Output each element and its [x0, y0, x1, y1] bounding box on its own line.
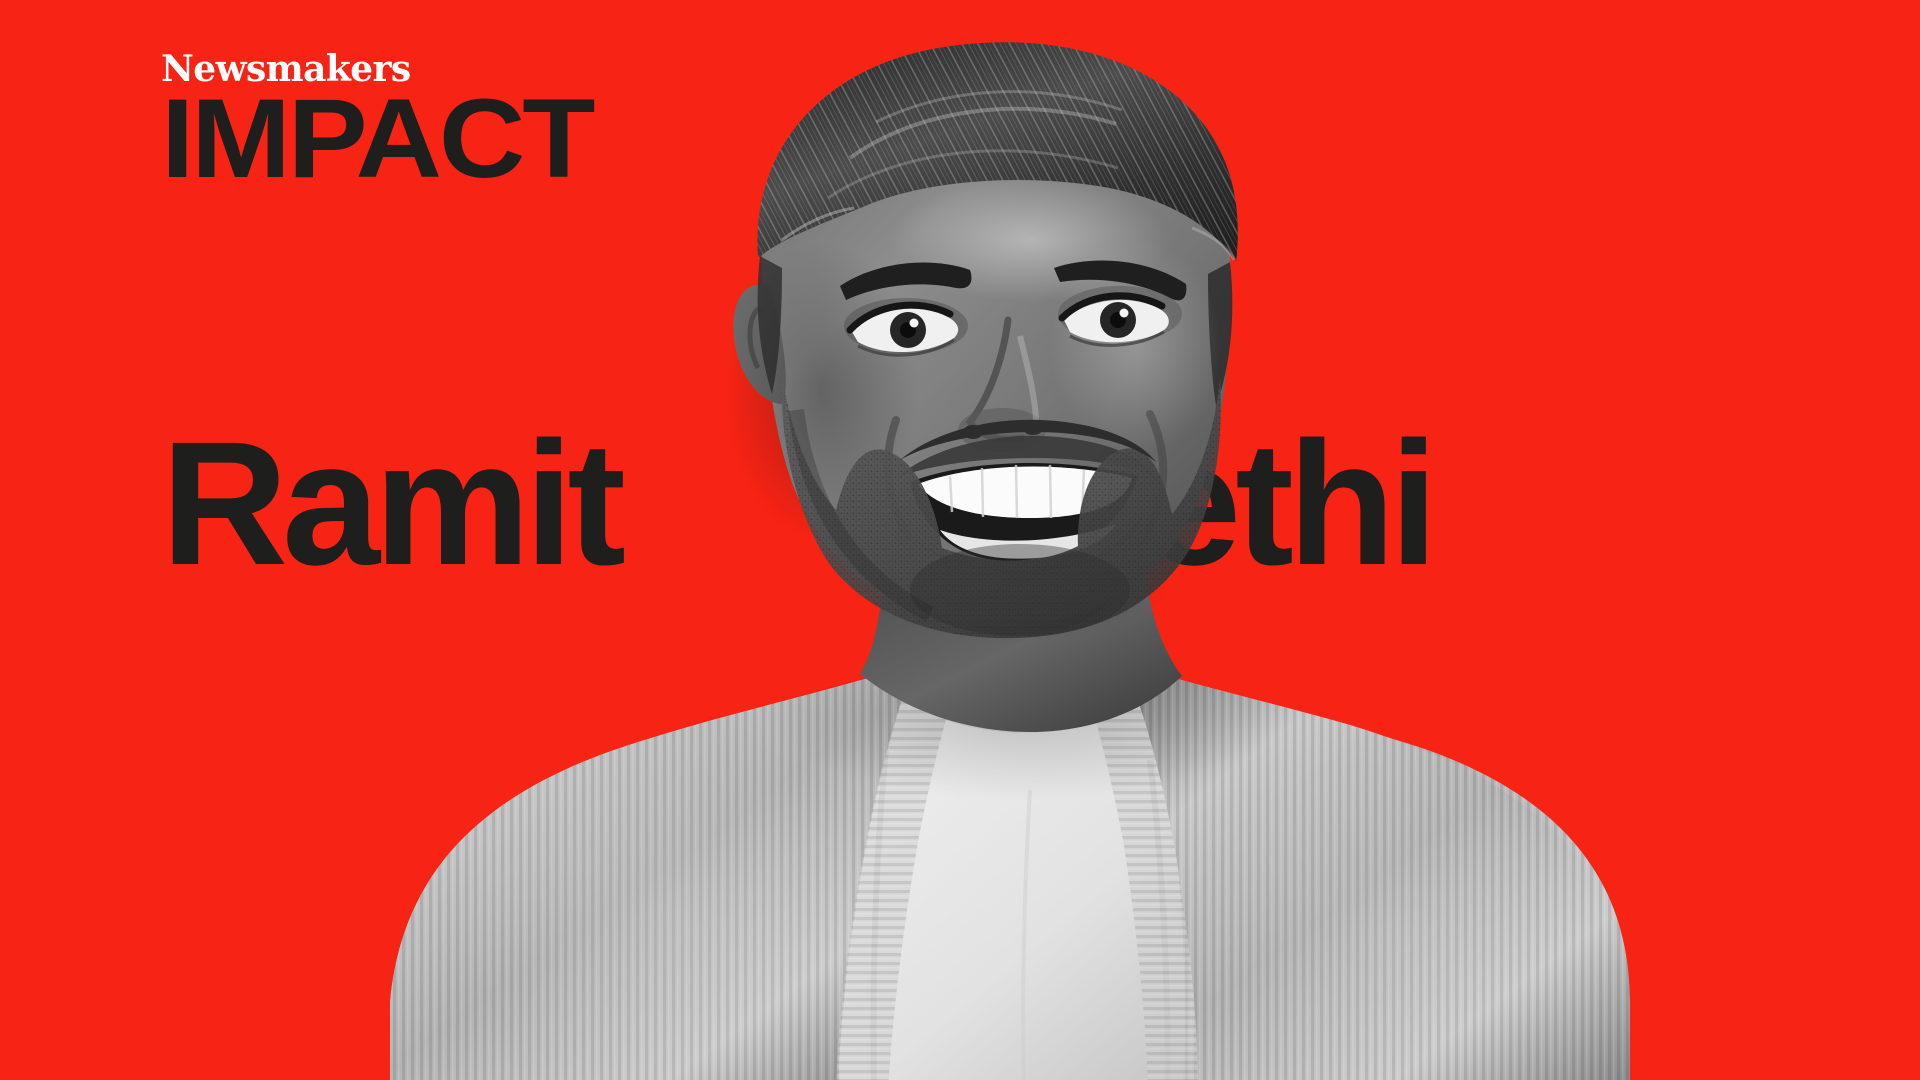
newsmakers-impact-poster: Newsmakers IMPACT Ramit Sethi: [0, 0, 1920, 1080]
subject-first-name: Ramit: [161, 416, 620, 592]
portrait-head: [726, 42, 1238, 638]
brand-lockup: Newsmakers IMPACT: [161, 50, 564, 187]
subject-last-name: Sethi: [1032, 416, 1432, 592]
impact-wordmark: IMPACT: [161, 91, 592, 187]
portrait-torso: [390, 582, 1630, 1080]
portrait-neck: [860, 510, 1182, 732]
